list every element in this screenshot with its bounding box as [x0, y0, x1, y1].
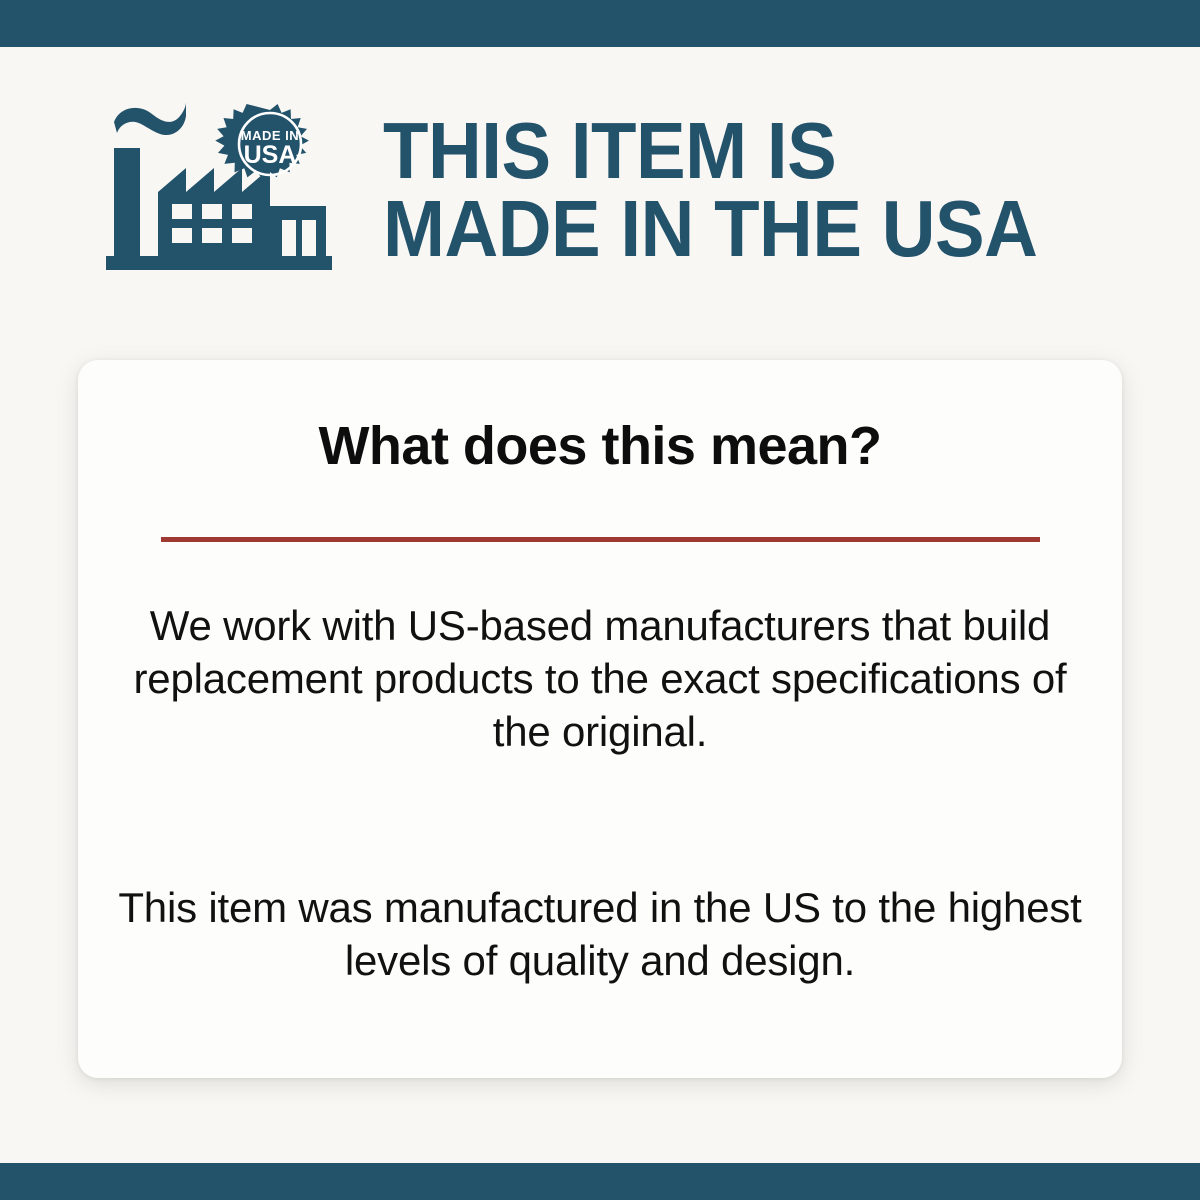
header: MADE IN USA THIS ITEM IS MADE IN THE USA: [0, 95, 1200, 285]
red-divider-rule: [161, 537, 1040, 542]
bottom-accent-bar: [0, 1163, 1200, 1200]
page-canvas: MADE IN USA THIS ITEM IS MADE IN THE USA…: [0, 47, 1200, 1163]
title-line-1: THIS ITEM IS: [383, 112, 1143, 190]
card-heading: What does this mean?: [78, 415, 1122, 477]
page-title: THIS ITEM IS MADE IN THE USA: [383, 112, 1200, 267]
factory-icon: MADE IN USA: [100, 100, 355, 280]
info-card: What does this mean? We work with US-bas…: [78, 360, 1122, 1078]
title-line-2: MADE IN THE USA: [383, 190, 1143, 268]
badge-line-2: USA: [244, 141, 297, 169]
made-in-usa-badge-icon: MADE IN USA: [215, 104, 309, 178]
card-paragraph-1: We work with US-based manufacturers that…: [108, 600, 1092, 759]
card-paragraph-2: This item was manufactured in the US to …: [108, 882, 1092, 988]
top-accent-bar: [0, 0, 1200, 47]
